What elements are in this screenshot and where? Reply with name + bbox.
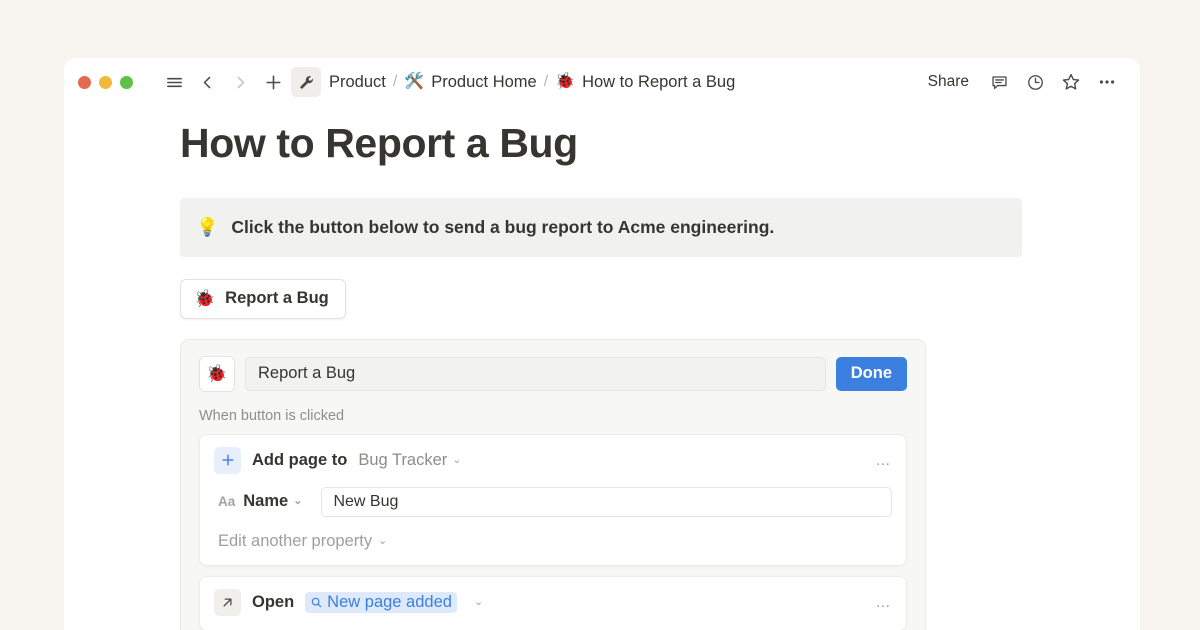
hamburger-menu-icon[interactable] (159, 67, 189, 97)
action-target-selector[interactable]: Bug Tracker ⌄ (358, 451, 461, 470)
breadcrumb-item-product[interactable]: Product (329, 73, 386, 92)
text-property-icon: Aa (218, 494, 235, 509)
button-editor-panel: 🐞 Report a Bug Done When button is click… (180, 339, 926, 630)
report-a-bug-button-label: Report a Bug (225, 289, 329, 308)
open-target-label: New page added (327, 593, 452, 612)
chevron-right-icon[interactable] (225, 67, 255, 97)
wrench-icon[interactable] (291, 67, 321, 97)
action-step-add-page: Add page to Bug Tracker ⌄ … Aa Name ⌄ Ne… (199, 434, 907, 566)
breadcrumb: Product / 🛠️ Product Home / 🐞 How to Rep… (329, 73, 735, 92)
comment-icon[interactable] (984, 67, 1014, 97)
chevron-down-icon: ⌄ (474, 597, 483, 608)
action-more-icon[interactable]: … (876, 595, 893, 610)
action-title: Open (252, 593, 294, 612)
ladybug-icon: 🐞 (555, 74, 575, 90)
zoom-window-button[interactable] (120, 76, 133, 89)
breadcrumb-label: Product (329, 73, 386, 92)
breadcrumb-item-current-page[interactable]: 🐞 How to Report a Bug (555, 73, 735, 92)
nav-icons (159, 67, 321, 97)
callout-block: 💡 Click the button below to send a bug r… (180, 198, 1022, 257)
done-button[interactable]: Done (836, 357, 907, 391)
minimize-window-button[interactable] (99, 76, 112, 89)
button-emoji-picker[interactable]: 🐞 (199, 356, 235, 392)
chevron-down-icon: ⌄ (378, 536, 387, 547)
topbar-actions: Share (919, 67, 1122, 97)
close-window-button[interactable] (78, 76, 91, 89)
app-window: Product / 🛠️ Product Home / 🐞 How to Rep… (64, 58, 1140, 630)
chevron-left-icon[interactable] (192, 67, 222, 97)
action-step-header: Add page to Bug Tracker ⌄ … (214, 447, 892, 474)
property-value-input[interactable]: New Bug (321, 487, 892, 517)
edit-another-property-label: Edit another property (218, 532, 372, 551)
breadcrumb-label: How to Report a Bug (582, 73, 735, 92)
arrow-up-right-icon (214, 589, 241, 616)
breadcrumb-separator: / (393, 73, 397, 91)
open-target-pill[interactable]: New page added (305, 592, 457, 613)
chevron-down-icon: ⌄ (452, 455, 461, 466)
ladybug-icon: 🐞 (206, 364, 227, 384)
share-button[interactable]: Share (919, 68, 978, 96)
plus-icon (214, 447, 241, 474)
property-value: New Bug (333, 493, 398, 511)
ellipsis-icon[interactable] (1092, 67, 1122, 97)
chevron-down-icon: ⌄ (293, 496, 302, 507)
action-step-open: Open New page added ⌄ … (199, 576, 907, 630)
ladybug-icon: 🐞 (194, 289, 215, 309)
action-step-header: Open New page added ⌄ … (214, 589, 892, 616)
button-editor-header: 🐞 Report a Bug Done (199, 356, 907, 392)
action-title: Add page to (252, 451, 347, 470)
button-name-value: Report a Bug (258, 364, 355, 383)
breadcrumb-label: Product Home (431, 73, 536, 92)
when-clicked-label: When button is clicked (199, 408, 907, 424)
property-row-name: Aa Name ⌄ New Bug (214, 487, 892, 517)
edit-another-property-button[interactable]: Edit another property ⌄ (214, 532, 892, 551)
star-icon[interactable] (1056, 67, 1086, 97)
report-a-bug-button[interactable]: 🐞 Report a Bug (180, 279, 346, 319)
plus-icon[interactable] (258, 67, 288, 97)
page-title: How to Report a Bug (180, 120, 1140, 167)
action-target-label: Bug Tracker (358, 451, 447, 470)
callout-text: Click the button below to send a bug rep… (231, 216, 774, 239)
button-name-input[interactable]: Report a Bug (245, 357, 826, 391)
property-name-selector[interactable]: Name ⌄ (243, 492, 302, 511)
breadcrumb-separator: / (544, 73, 548, 91)
action-more-icon[interactable]: … (876, 453, 893, 468)
search-icon (310, 596, 323, 609)
traffic-lights (78, 76, 133, 89)
property-name-label: Name (243, 492, 288, 511)
breadcrumb-item-product-home[interactable]: 🛠️ Product Home (404, 73, 536, 92)
hammer-and-wrench-icon: 🛠️ (404, 74, 424, 90)
light-bulb-icon: 💡 (196, 216, 218, 239)
window-topbar: Product / 🛠️ Product Home / 🐞 How to Rep… (64, 58, 1140, 106)
clock-icon[interactable] (1020, 67, 1050, 97)
page-content: How to Report a Bug 💡 Click the button b… (64, 120, 1140, 630)
done-button-label: Done (851, 364, 892, 383)
